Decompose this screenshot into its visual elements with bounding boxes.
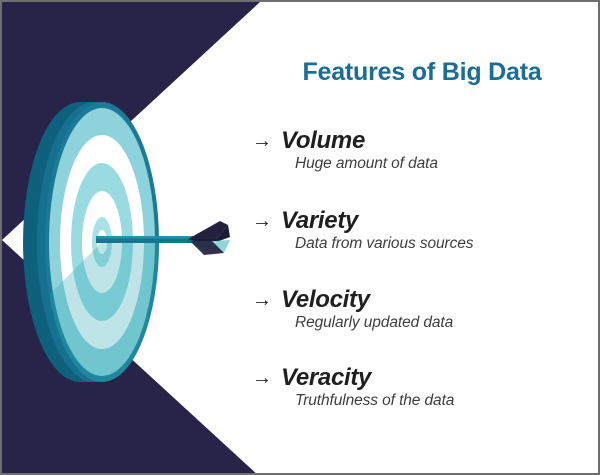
arrow-right-icon: → (252, 131, 272, 151)
arrow-right-icon: → (252, 290, 272, 310)
infographic-canvas: Features of Big Data → Volume Huge amoun… (0, 0, 600, 475)
feature-item-veracity: → Veracity Truthfulness of the data (250, 365, 594, 411)
feature-heading-row: → Variety (250, 208, 594, 233)
feature-subtitle: Truthfulness of the data (250, 392, 594, 411)
feature-subtitle: Data from various sources (250, 235, 594, 254)
feature-title: Variety (281, 208, 358, 233)
feature-item-velocity: → Velocity Regularly updated data (250, 287, 594, 333)
feature-title: Veracity (281, 365, 371, 390)
feature-heading-row: → Volume (250, 128, 594, 153)
feature-item-volume: → Volume Huge amount of data (250, 128, 594, 174)
dart-arrow (92, 207, 232, 277)
feature-title: Velocity (281, 287, 370, 312)
page-title: Features of Big Data (264, 58, 580, 87)
feature-heading-row: → Velocity (250, 287, 594, 312)
feature-heading-row: → Veracity (250, 365, 594, 390)
feature-subtitle: Regularly updated data (250, 314, 594, 333)
feature-subtitle: Huge amount of data (250, 155, 594, 174)
arrow-right-icon: → (252, 368, 272, 388)
feature-item-variety: → Variety Data from various sources (250, 208, 594, 254)
content-column: Features of Big Data → Volume Huge amoun… (248, 2, 594, 475)
feature-title: Volume (281, 128, 365, 153)
arrow-right-icon: → (252, 211, 272, 231)
